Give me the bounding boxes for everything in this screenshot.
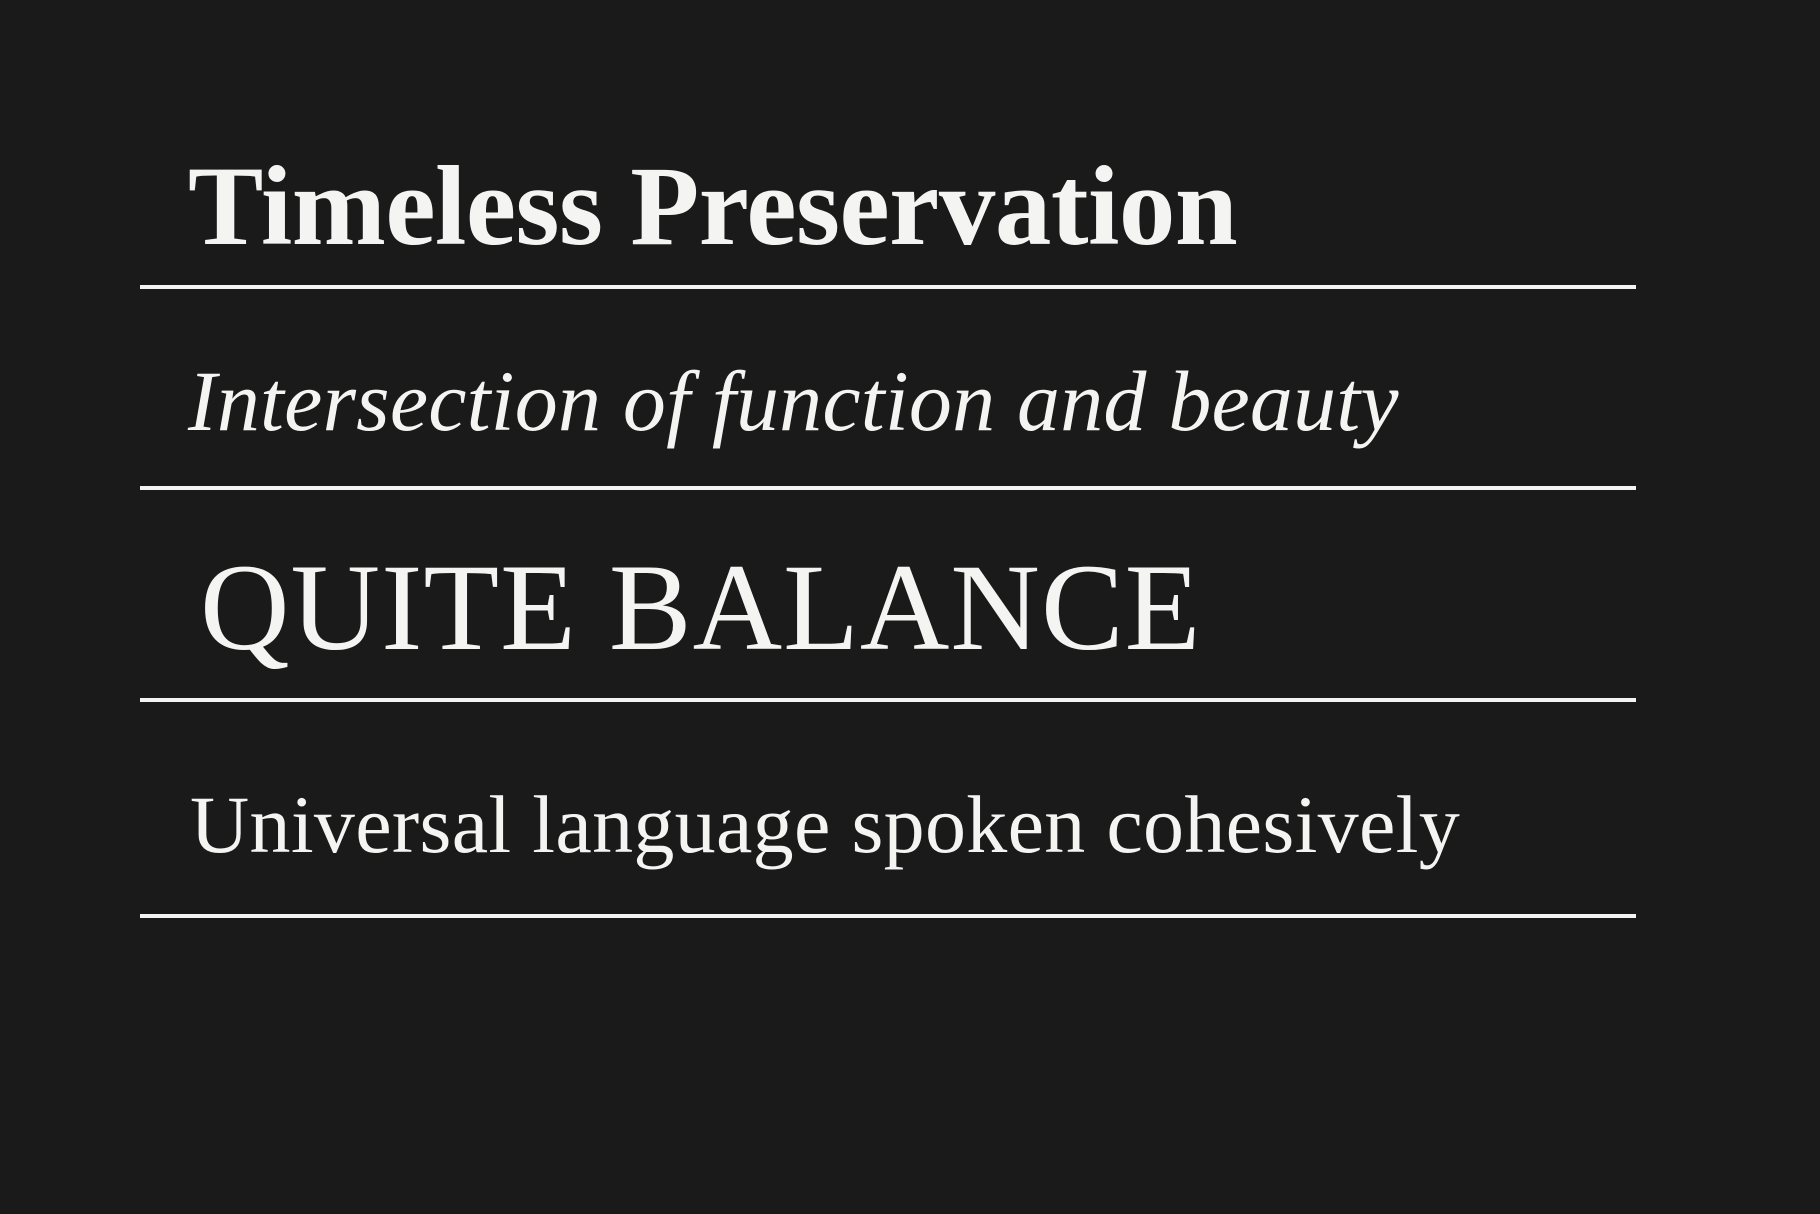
specimen-line-headline: Timeless Preservation — [140, 150, 1636, 285]
specimen-line-uppercase: QUITE BALANCE — [140, 538, 1636, 698]
specimen-row-4: Universal language spoken cohesively — [140, 742, 1636, 918]
specimen-row-1: Timeless Preservation — [140, 150, 1636, 289]
specimen-line-regular: Universal language spoken cohesively — [140, 742, 1636, 914]
type-specimen-canvas: Timeless Preservation Intersection of fu… — [0, 0, 1820, 1214]
divider-rule-1 — [140, 285, 1636, 289]
divider-rule-4 — [140, 914, 1636, 918]
divider-rule-3 — [140, 698, 1636, 702]
specimen-row-2: Intersection of function and beauty — [140, 340, 1636, 490]
divider-rule-2 — [140, 486, 1636, 490]
specimen-row-3: QUITE BALANCE — [140, 538, 1636, 702]
specimen-line-italic: Intersection of function and beauty — [140, 340, 1636, 486]
